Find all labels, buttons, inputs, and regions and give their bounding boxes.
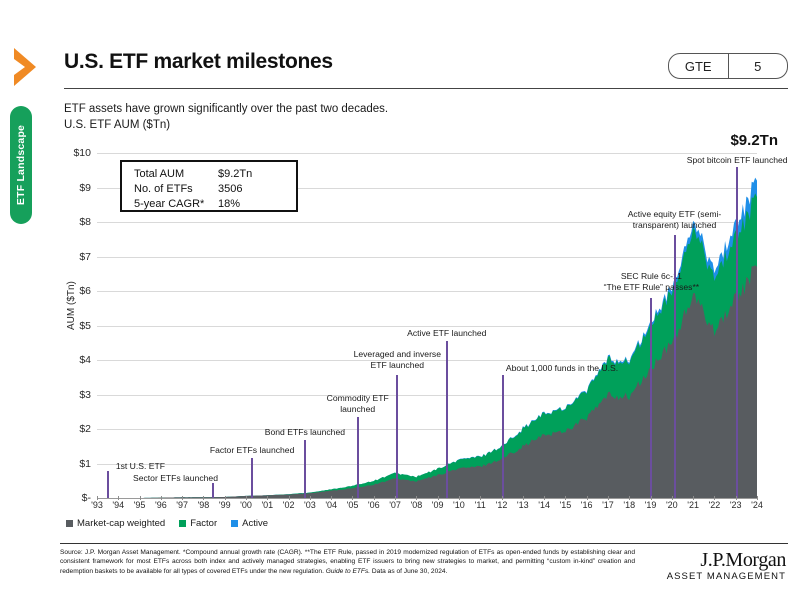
y-axis-tick-label: $1: [79, 458, 91, 470]
milestone-label: Bond ETFs launched: [265, 427, 345, 438]
x-axis-tick-mark: [97, 496, 98, 500]
legend-swatch-icon: [179, 520, 186, 527]
x-axis-tick-mark: [203, 496, 204, 500]
y-axis-tick-label: $3: [79, 389, 91, 401]
stats-row: No. of ETFs3506: [134, 182, 296, 197]
x-axis-tick-mark: [225, 496, 226, 500]
badge-label: GTE: [669, 54, 729, 78]
footnote-italic: Guide to ETFs.: [326, 568, 370, 575]
milestone-line: [357, 417, 359, 498]
header-divider: [64, 88, 788, 89]
jpmorgan-logo: J.P.Morgan ASSET MANAGEMENT: [667, 549, 786, 583]
y-axis-tick-label: $7: [79, 251, 91, 263]
y-axis-tick-label: $4: [79, 354, 91, 366]
logo-tagline: ASSET MANAGEMENT: [667, 571, 786, 583]
x-axis-tick-label: '97: [176, 500, 188, 510]
stats-value: $9.2Tn: [218, 167, 252, 182]
x-axis-tick-mark: [267, 496, 268, 500]
milestone-line: [396, 375, 398, 498]
gridline: [97, 498, 757, 499]
x-axis-tick-mark: [480, 496, 481, 500]
x-axis-tick-mark: [395, 496, 396, 500]
legend-swatch-icon: [66, 520, 73, 527]
x-axis-tick-label: '05: [347, 500, 359, 510]
x-axis-tick-label: '16: [581, 500, 593, 510]
chevron-right-icon: [10, 46, 44, 88]
x-axis-tick-mark: [757, 496, 758, 500]
x-axis-tick-mark: [459, 496, 460, 500]
footnote-text: Source: J.P. Morgan Asset Management. *C…: [60, 548, 635, 576]
x-axis-tick-label: '17: [602, 500, 614, 510]
y-axis-tick-label: $5: [79, 320, 91, 332]
x-axis-tick-label: '95: [134, 500, 146, 510]
milestone-label: Factor ETFs launched: [210, 445, 295, 456]
milestone-label: Leveraged and inverse ETF launched: [354, 349, 441, 370]
x-axis-tick-label: '00: [240, 500, 252, 510]
x-axis-tick-label: '98: [198, 500, 210, 510]
x-axis-tick-mark: [736, 496, 737, 500]
x-axis-tick-label: '01: [261, 500, 273, 510]
summary-stats-box: Total AUM$9.2TnNo. of ETFs35065-year CAG…: [120, 160, 298, 212]
stats-key: No. of ETFs: [134, 182, 218, 197]
area-series-market-cap-weighted: [97, 265, 757, 498]
stats-row: Total AUM$9.2Tn: [134, 167, 296, 182]
x-axis-tick-label: '09: [432, 500, 444, 510]
milestone-label: Spot bitcoin ETF launched: [687, 155, 788, 166]
x-axis-tick-label: '02: [283, 500, 295, 510]
x-axis-tick-label: '24: [751, 500, 763, 510]
x-axis-tick-mark: [502, 496, 503, 500]
x-axis-tick-label: '20: [666, 500, 678, 510]
legend-label: Market-cap weighted: [77, 518, 165, 529]
legend-item[interactable]: Factor: [179, 518, 217, 529]
y-axis-tick-label: $2: [79, 423, 91, 435]
peak-value-label: $9.2Tn: [730, 132, 778, 149]
x-axis-tick-mark: [310, 496, 311, 500]
y-axis-tick-label: $-: [82, 492, 91, 504]
milestone-label: About 1,000 funds in the U.S.: [506, 363, 618, 374]
x-axis-tick-label: '03: [304, 500, 316, 510]
legend-swatch-icon: [231, 520, 238, 527]
legend-label: Factor: [190, 518, 217, 529]
x-axis-tick-label: '13: [517, 500, 529, 510]
milestone-line: [212, 483, 214, 498]
x-axis-tick-label: '12: [496, 500, 508, 510]
legend-item[interactable]: Market-cap weighted: [66, 518, 165, 529]
milestone-line: [650, 298, 652, 498]
stats-row: 5-year CAGR*18%: [134, 197, 296, 212]
x-axis-tick-label: '10: [453, 500, 465, 510]
x-axis-tick-mark: [289, 496, 290, 500]
x-axis-tick-label: '08: [410, 500, 422, 510]
y-axis-tick-label: $10: [73, 147, 91, 159]
y-axis-tick-label: $8: [79, 216, 91, 228]
milestone-label: Active equity ETF (semi- transparent) la…: [628, 209, 722, 230]
x-axis-tick-label: '94: [112, 500, 124, 510]
x-axis-tick-mark: [246, 496, 247, 500]
x-axis-tick-mark: [608, 496, 609, 500]
milestone-label: SEC Rule 6c-11 “The ETF Rule” passes**: [604, 271, 700, 292]
milestone-line: [674, 235, 676, 498]
x-axis-tick-label: '22: [709, 500, 721, 510]
milestone-label: Active ETF launched: [407, 328, 486, 339]
milestone-line: [446, 341, 448, 498]
subtitle-line-1: ETF assets have grown significantly over…: [64, 103, 388, 115]
x-axis-tick-mark: [587, 496, 588, 500]
y-axis-tick-label: $9: [79, 182, 91, 194]
footnote-tail: Data as of June 30, 2024.: [370, 568, 447, 575]
y-axis-tick-label: $6: [79, 285, 91, 297]
x-axis-tick-mark: [352, 496, 353, 500]
x-axis-tick-mark: [182, 496, 183, 500]
x-axis-tick-label: '96: [155, 500, 167, 510]
milestone-label: Commodity ETF launched: [327, 393, 389, 414]
x-axis-tick-label: '15: [560, 500, 572, 510]
page-title: U.S. ETF market milestones: [64, 50, 333, 74]
stats-value: 3506: [218, 182, 242, 197]
stats-key: 5-year CAGR*: [134, 197, 218, 212]
x-axis-tick-mark: [140, 496, 141, 500]
milestone-line: [736, 167, 738, 498]
x-axis-tick-mark: [161, 496, 162, 500]
x-axis-tick-label: '04: [325, 500, 337, 510]
milestone-label: Sector ETFs launched: [97, 473, 218, 484]
x-axis-tick-label: '19: [645, 500, 657, 510]
x-axis-tick-mark: [714, 496, 715, 500]
logo-name: J.P.Morgan: [667, 549, 786, 571]
x-axis-ticks: '93'94'95'96'97'98'99'00'01'02'03'04'05'…: [97, 500, 757, 514]
x-axis-tick-mark: [672, 496, 673, 500]
legend-item[interactable]: Active: [231, 518, 268, 529]
x-axis-tick-label: '93: [91, 500, 103, 510]
x-axis-tick-label: '23: [730, 500, 742, 510]
x-axis-tick-label: '07: [389, 500, 401, 510]
x-axis-tick-label: '11: [475, 500, 486, 510]
milestone-line: [502, 375, 504, 498]
x-axis-tick-label: '21: [687, 500, 699, 510]
x-axis-tick-mark: [118, 496, 119, 500]
stats-key: Total AUM: [134, 167, 218, 182]
milestone-line: [251, 458, 253, 498]
x-axis-tick-label: '14: [538, 500, 550, 510]
gte-page-badge[interactable]: GTE 5: [668, 53, 788, 79]
y-axis-title: AUM ($Tn): [66, 281, 77, 330]
x-axis-tick-mark: [693, 496, 694, 500]
x-axis-tick-mark: [416, 496, 417, 500]
subtitle-line-2: U.S. ETF AUM ($Tn): [64, 119, 170, 131]
footnote-divider: [60, 543, 788, 544]
sidebar-item-label: ETF Landscape: [15, 125, 27, 205]
x-axis-tick-label: '06: [368, 500, 380, 510]
x-axis-tick-mark: [565, 496, 566, 500]
x-axis-tick-mark: [629, 496, 630, 500]
chart-legend: Market-cap weightedFactorActive: [66, 518, 268, 529]
x-axis-tick-mark: [438, 496, 439, 500]
x-axis-tick-mark: [374, 496, 375, 500]
x-axis-tick-label: '18: [623, 500, 635, 510]
sidebar-item-etf-landscape[interactable]: ETF Landscape: [10, 106, 32, 224]
x-axis-tick-mark: [651, 496, 652, 500]
x-axis-tick-mark: [544, 496, 545, 500]
stats-value: 18%: [218, 197, 240, 212]
x-axis-tick-mark: [331, 496, 332, 500]
milestone-label: 1st U.S. ETF: [97, 461, 165, 472]
badge-page-number: 5: [729, 54, 788, 78]
x-axis-tick-label: '99: [219, 500, 231, 510]
legend-label: Active: [242, 518, 268, 529]
x-axis-tick-mark: [523, 496, 524, 500]
milestone-line: [304, 440, 306, 498]
